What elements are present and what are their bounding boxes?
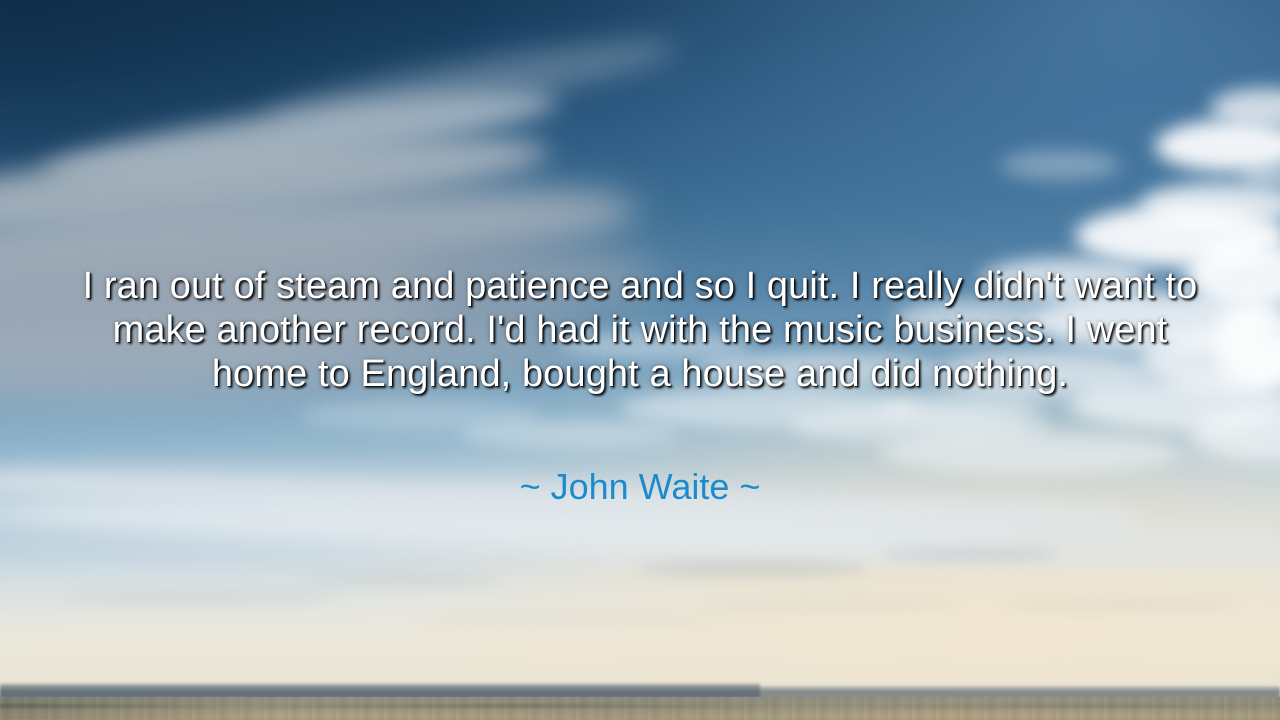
quote-block: I ran out of steam and patience and so I… [0,264,1280,396]
cloud-puff-1 [1155,120,1280,172]
cloud-wisp-2 [880,548,1060,560]
ground-texture [0,697,1280,720]
cloud-puff-15 [1000,150,1120,180]
quote-image-canvas: I ran out of steam and patience and so I… [0,0,1280,720]
atmospheric-haze [0,560,1280,690]
quote-text: I ran out of steam and patience and so I… [70,264,1210,396]
quote-author: ~ John Waite ~ [0,466,1280,508]
cloud-small-7 [300,400,540,430]
ground-dark-streak [0,704,1280,708]
